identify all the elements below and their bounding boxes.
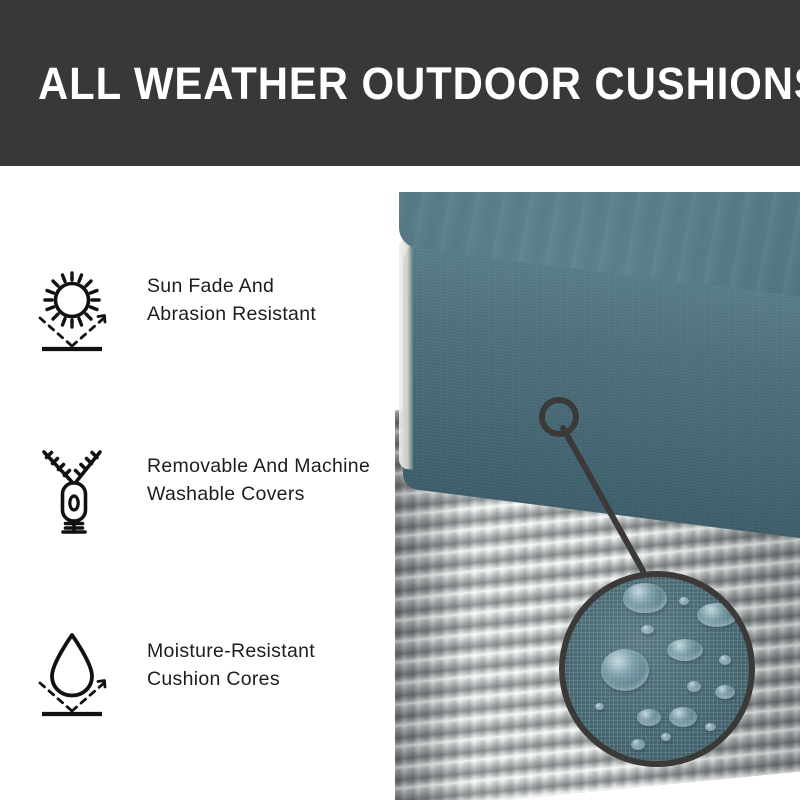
- feature-label-sun-fade: Sun Fade And Abrasion Resistant: [147, 272, 399, 328]
- water-droplet-icon: [34, 625, 118, 719]
- cushion-left-piping: [399, 238, 413, 470]
- page-title: ALL WEATHER OUTDOOR CUSHIONS: [38, 0, 717, 166]
- water-droplet: [705, 723, 716, 731]
- feature-label-line-2: Cushion Cores: [147, 665, 399, 693]
- water-droplet: [715, 685, 735, 699]
- feature-label-moisture-resistant: Moisture-Resistant Cushion Cores: [147, 637, 399, 693]
- water-droplet: [661, 733, 671, 741]
- feature-label-line-1: Removable And Machine: [147, 452, 399, 480]
- water-droplet: [641, 625, 654, 634]
- water-droplet: [669, 707, 697, 727]
- feature-item-sun-fade: Sun Fade And Abrasion Resistant: [0, 252, 400, 362]
- water-droplet: [623, 583, 667, 613]
- water-droplet: [631, 739, 645, 750]
- feature-label-line-1: Moisture-Resistant: [147, 637, 399, 665]
- zipper-icon: [34, 440, 118, 534]
- product-photo: [395, 166, 800, 800]
- header-banner: ALL WEATHER OUTDOOR CUSHIONS: [0, 0, 800, 166]
- feature-label-line-1: Sun Fade And: [147, 272, 399, 300]
- feature-item-removable-cover: Removable And Machine Washable Covers: [0, 432, 400, 542]
- water-droplet: [601, 649, 649, 691]
- sun-fade-icon: [34, 260, 118, 354]
- feature-label-line-2: Washable Covers: [147, 480, 399, 508]
- photo-top-margin: [395, 166, 800, 192]
- feature-label-removable-cover: Removable And Machine Washable Covers: [147, 452, 399, 508]
- magnifier-detail-circle: [559, 571, 755, 767]
- product-feature-graphic: ALL WEATHER OUTDOOR CUSHIONS: [0, 0, 800, 800]
- water-droplet: [679, 597, 689, 605]
- outdoor-cushion: [395, 166, 800, 526]
- water-droplet: [667, 639, 703, 661]
- feature-item-moisture-resistant: Moisture-Resistant Cushion Cores: [0, 617, 400, 727]
- water-droplet: [595, 703, 604, 710]
- water-droplet: [697, 603, 737, 627]
- water-droplet: [719, 655, 731, 665]
- water-droplet: [637, 709, 661, 726]
- water-droplet: [687, 681, 701, 692]
- feature-label-line-2: Abrasion Resistant: [147, 300, 399, 328]
